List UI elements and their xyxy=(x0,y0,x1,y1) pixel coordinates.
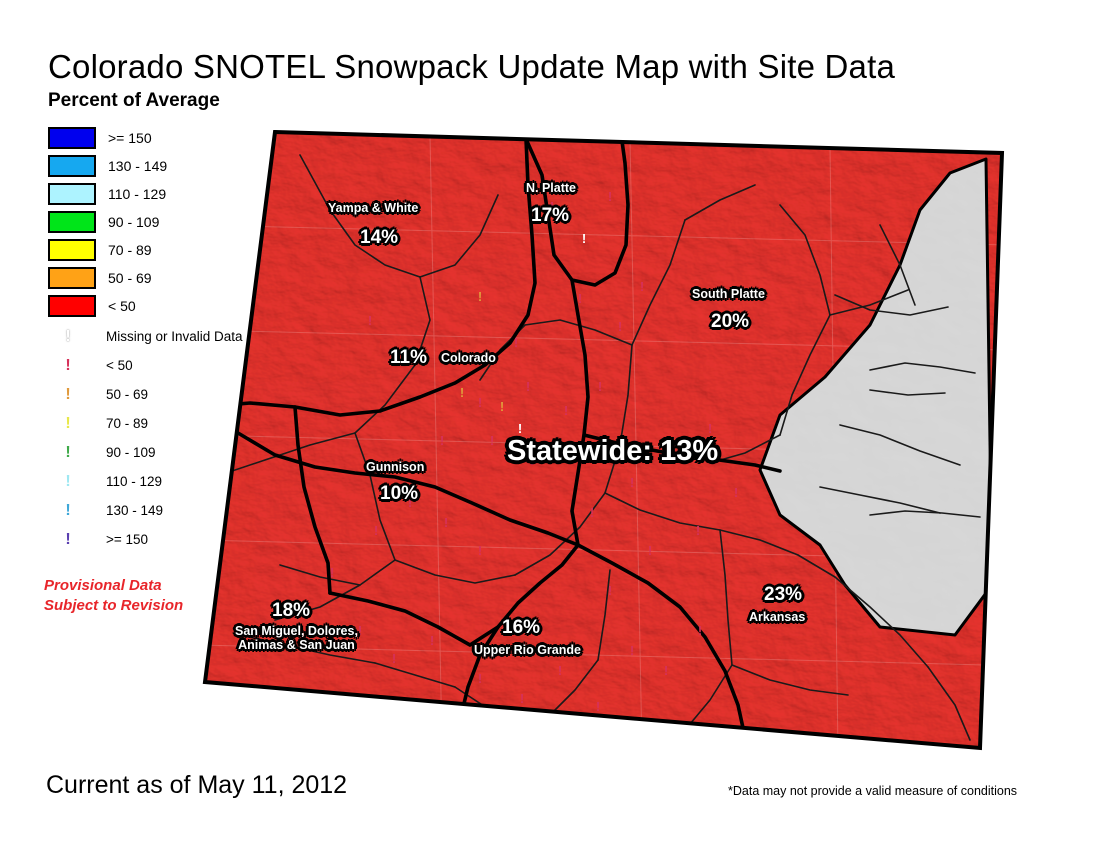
exclamation-marker-icon: ! xyxy=(48,503,88,519)
snotel-site-marker: ! xyxy=(640,279,644,294)
snotel-site-marker: ! xyxy=(734,485,738,500)
legend-swatch xyxy=(48,127,96,149)
site-legend-label: 130 - 149 xyxy=(106,503,163,518)
site-legend-label: >= 150 xyxy=(106,532,148,547)
site-legend-label: 110 - 129 xyxy=(106,474,162,489)
snotel-site-marker: ! xyxy=(526,379,530,394)
snotel-site-marker: ! xyxy=(330,565,334,580)
snotel-site-marker: ! xyxy=(608,583,612,598)
legend-item: 50 - 69 xyxy=(48,264,167,292)
basin-percent-san-juan-group: 18% xyxy=(272,600,310,621)
snotel-site-marker: ! xyxy=(490,433,494,448)
legend-item: >= 150 xyxy=(48,124,167,152)
legend-label: 50 - 69 xyxy=(108,270,152,286)
exclamation-marker-icon: ! xyxy=(48,532,88,548)
legend-swatch xyxy=(48,211,96,233)
basin-percent-yampa-white: 14% xyxy=(360,227,398,248)
legend-swatch xyxy=(48,295,96,317)
legend-item: 70 - 89 xyxy=(48,236,167,264)
legend-label: 110 - 129 xyxy=(108,186,166,202)
colorado-map: ! ! ! ! ! ! ! ! ! ! ! ! ! ! ! ! ! ! ! ! … xyxy=(180,115,1080,775)
exclamation-marker-icon: ! xyxy=(48,387,88,403)
basin-label-south-platte: South Platte xyxy=(692,287,765,301)
provisional-line-2: Subject to Revision xyxy=(44,596,183,616)
snotel-site-marker: ! xyxy=(500,399,504,414)
snotel-site-marker: ! xyxy=(478,671,482,686)
exclamation-marker-icon: ! xyxy=(48,358,88,374)
site-legend-label: 50 - 69 xyxy=(106,387,148,402)
exclamation-marker-icon: ! xyxy=(48,474,88,490)
snotel-site-marker: ! xyxy=(696,523,700,538)
basin-label-n-platte: N. Platte xyxy=(526,181,576,195)
current-as-of-date: Current as of May 11, 2012 xyxy=(46,771,347,800)
legend-label: < 50 xyxy=(108,298,136,314)
snotel-site-marker: ! xyxy=(564,403,568,418)
legend-swatch xyxy=(48,183,96,205)
snotel-site-marker: ! xyxy=(596,699,600,714)
snotel-site-marker: ! xyxy=(374,523,378,538)
basin-label-arkansas: Arkansas xyxy=(749,610,805,624)
basin-label-san-juan-group: San Miguel, Dolores, Animas & San Juan xyxy=(235,624,358,652)
basin-label-line-1: San Miguel, Dolores, xyxy=(235,624,358,638)
provisional-line-1: Provisional Data xyxy=(44,576,183,596)
legend-item: 90 - 109 xyxy=(48,208,167,236)
snotel-site-marker: ! xyxy=(608,189,612,204)
color-legend: >= 150 130 - 149 110 - 129 90 - 109 70 -… xyxy=(48,124,167,320)
snotel-site-marker: ! xyxy=(392,651,396,666)
snotel-site-marker: ! xyxy=(478,289,482,304)
snotel-site-marker: ! xyxy=(648,543,652,558)
legend-swatch xyxy=(48,239,96,261)
site-legend-label: < 50 xyxy=(106,358,133,373)
basin-percent-n-platte: 17% xyxy=(531,205,569,226)
exclamation-marker-icon: ! xyxy=(48,329,88,345)
snotel-site-marker: ! xyxy=(708,421,712,436)
snotel-site-marker: ! xyxy=(444,515,448,530)
snotel-site-marker: ! xyxy=(478,395,482,410)
snotel-site-marker: ! xyxy=(358,623,362,638)
snotel-site-marker: ! xyxy=(518,421,522,436)
basin-label-upper-rio-grande: Upper Rio Grande xyxy=(474,643,581,657)
basin-label-line-2: Animas & San Juan xyxy=(235,638,358,652)
data-disclaimer-footnote: *Data may not provide a valid measure of… xyxy=(728,784,1017,798)
legend-item: 130 - 149 xyxy=(48,152,167,180)
basin-percent-upper-rio-grande: 16% xyxy=(502,617,540,638)
snotel-site-marker: ! xyxy=(460,385,464,400)
snotel-site-marker: ! xyxy=(582,231,586,246)
basin-label-colorado: Colorado xyxy=(441,351,496,365)
statewide-label: Statewide: 13% xyxy=(507,435,718,467)
legend-label: 70 - 89 xyxy=(108,242,152,258)
snotel-site-marker: ! xyxy=(558,663,562,678)
page-title: Colorado SNOTEL Snowpack Update Map with… xyxy=(48,48,895,86)
snotel-site-marker: ! xyxy=(618,319,622,334)
provisional-data-note: Provisional Data Subject to Revision xyxy=(44,576,183,617)
basin-label-gunnison: Gunnison xyxy=(366,460,424,474)
snotel-site-marker: ! xyxy=(664,663,668,678)
basin-label-yampa-white: Yampa & White xyxy=(328,201,418,215)
exclamation-marker-icon: ! xyxy=(48,445,88,461)
legend-item: 110 - 129 xyxy=(48,180,167,208)
exclamation-marker-icon: ! xyxy=(48,416,88,432)
site-legend-label: 90 - 109 xyxy=(106,445,156,460)
snotel-site-marker: ! xyxy=(698,623,702,638)
snotel-site-marker: ! xyxy=(578,291,582,306)
snotel-site-marker: ! xyxy=(630,643,634,658)
snotel-site-marker: ! xyxy=(440,433,444,448)
snotel-site-marker: ! xyxy=(630,475,634,490)
snotel-site-marker: ! xyxy=(430,633,434,648)
legend-label: 130 - 149 xyxy=(108,158,167,174)
site-legend-label: 70 - 89 xyxy=(106,416,148,431)
legend-swatch xyxy=(48,267,96,289)
legend-item: < 50 xyxy=(48,292,167,320)
snotel-site-marker: ! xyxy=(598,379,602,394)
snotel-site-marker: ! xyxy=(368,313,372,328)
page-subtitle: Percent of Average xyxy=(48,90,220,112)
basin-percent-colorado: 11% xyxy=(390,347,427,368)
basin-percent-south-platte: 20% xyxy=(711,311,749,332)
legend-label: 90 - 109 xyxy=(108,214,159,230)
legend-label: >= 150 xyxy=(108,130,152,146)
snotel-site-marker: ! xyxy=(520,691,524,706)
snotel-site-marker: ! xyxy=(514,335,518,350)
basin-percent-arkansas: 23% xyxy=(764,584,802,605)
legend-swatch xyxy=(48,155,96,177)
snotel-site-marker: ! xyxy=(590,505,594,520)
basin-percent-gunnison: 10% xyxy=(380,483,418,504)
snotel-site-marker: ! xyxy=(478,543,482,558)
